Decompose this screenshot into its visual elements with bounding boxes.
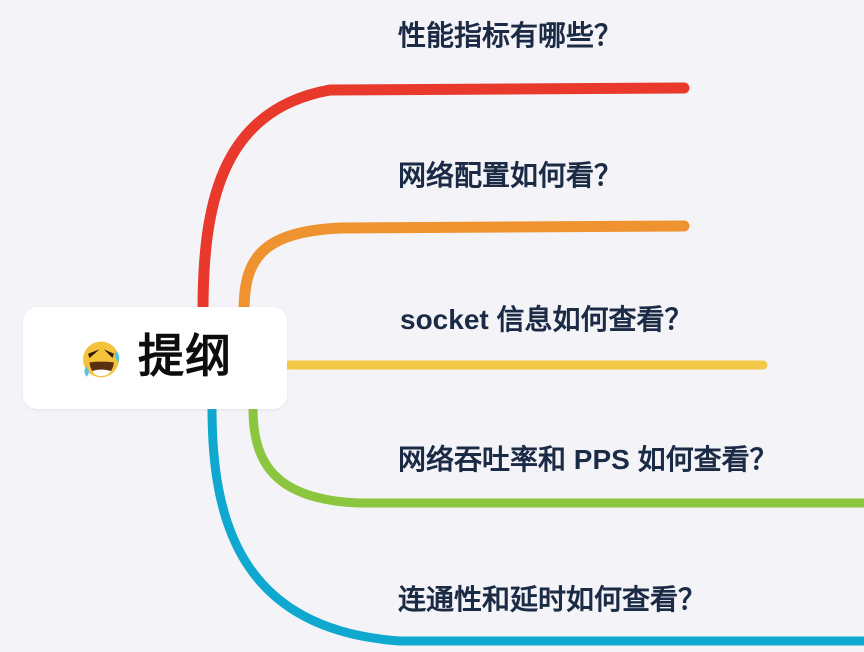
branch-label-connectivity-latency[interactable]: 连通性和延时如何查看？ xyxy=(398,586,706,614)
branch-label-socket-info[interactable]: socket 信息如何查看？ xyxy=(400,306,693,334)
rolling-on-the-floor-laughing-emoji xyxy=(78,335,124,381)
branch-curve-red xyxy=(203,88,684,312)
root-node[interactable]: 提纲 xyxy=(23,307,287,409)
mindmap-canvas: 提纲 性能指标有哪些？ 网络配置如何看？ socket 信息如何查看？ 网络吞吐… xyxy=(0,0,864,652)
branch-curve-orange xyxy=(244,226,684,312)
branch-label-performance-metrics[interactable]: 性能指标有哪些？ xyxy=(398,22,622,50)
branch-label-throughput-pps[interactable]: 网络吞吐率和 PPS 如何查看？ xyxy=(398,446,778,474)
branch-label-network-config[interactable]: 网络配置如何看？ xyxy=(398,162,622,190)
root-node-label: 提纲 xyxy=(138,333,232,383)
